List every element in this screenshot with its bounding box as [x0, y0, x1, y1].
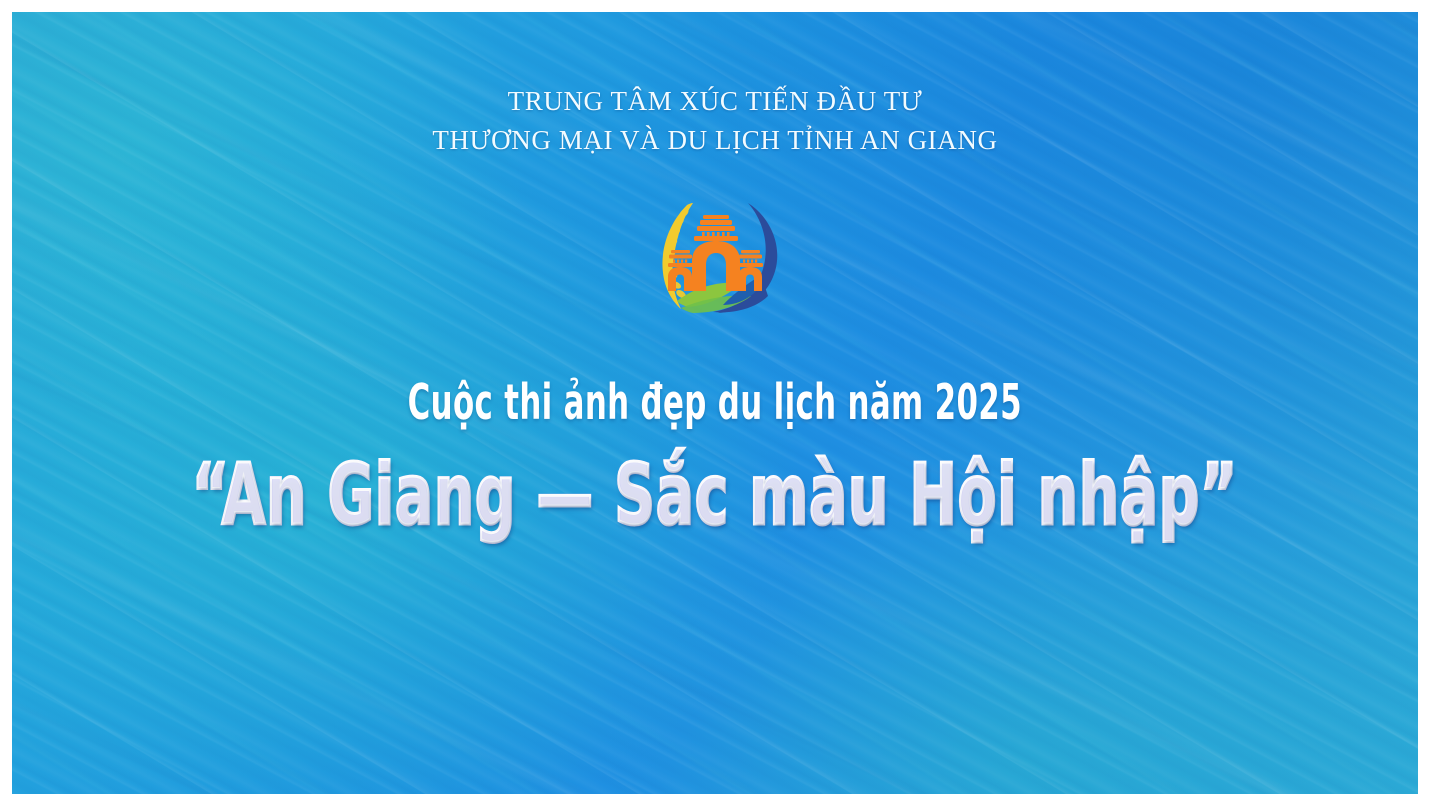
- slide-frame: TRUNG TÂM XÚC TIẾN ĐẦU TƯ THƯƠNG MẠI VÀ …: [0, 0, 1430, 808]
- slide-background: TRUNG TÂM XÚC TIẾN ĐẦU TƯ THƯƠNG MẠI VÀ …: [12, 12, 1418, 794]
- slide-content: TRUNG TÂM XÚC TIẾN ĐẦU TƯ THƯƠNG MẠI VÀ …: [12, 12, 1418, 794]
- organization-line-2: THƯƠNG MẠI VÀ DU LỊCH TỈNH AN GIANG: [432, 121, 997, 160]
- contest-slogan-text: “An Giang — Sắc màu Hội nhập”: [192, 446, 1238, 545]
- organization-header: TRUNG TÂM XÚC TIẾN ĐẦU TƯ THƯƠNG MẠI VÀ …: [432, 82, 997, 160]
- an-giang-tourism-promotion-logo-icon: [647, 195, 783, 315]
- contest-title: Cuộc thi ảnh đẹp du lịch năm 2025: [408, 378, 1022, 427]
- organization-line-1: TRUNG TÂM XÚC TIẾN ĐẦU TƯ: [432, 82, 997, 121]
- temple-gate-shape: [668, 215, 763, 291]
- contest-slogan: “An Giang — Sắc màu Hội nhập”: [192, 453, 1238, 538]
